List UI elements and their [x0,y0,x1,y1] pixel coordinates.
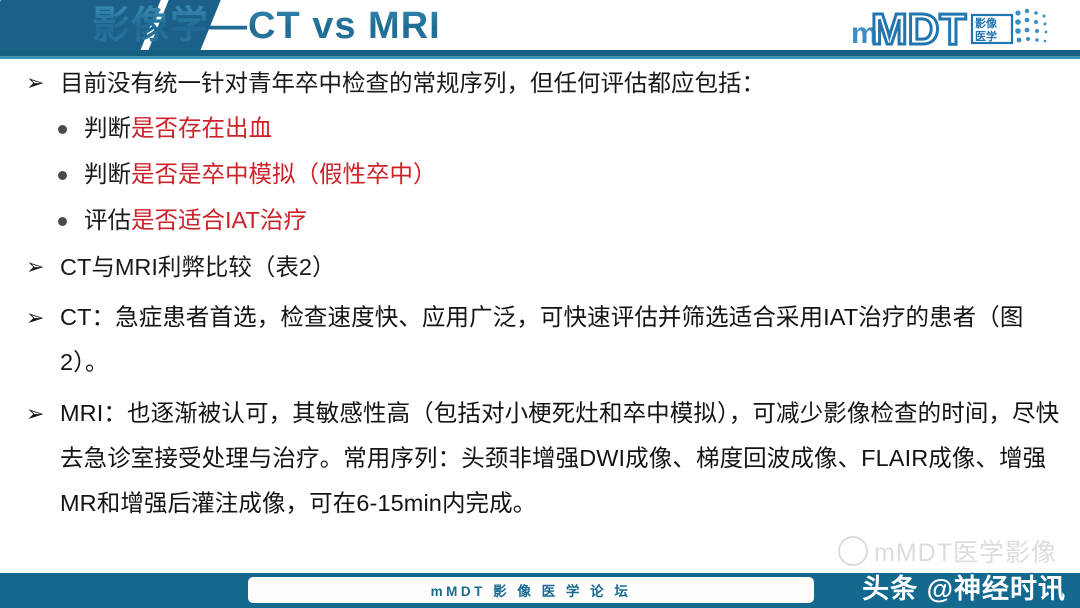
bullet-item-3: 评估是否适合IAT治疗 [54,205,1080,236]
slide-canvas: 影像学—CT vs MRI m MDT 影像 医学 [0,0,1080,608]
page-title: 影像学—CT vs MRI [92,1,441,51]
compare-line: ➢ CT与MRI利弊比较（表2） [26,252,1080,283]
svg-text:医学: 医学 [975,29,997,43]
header-rule-light [0,56,1080,59]
arrow-bullet-icon: ➢ [26,295,45,340]
arrow-bullet-icon: ➢ [26,67,44,98]
watermark-text: mMDT医学影像 [874,533,1057,569]
paragraph-ct: ➢ CT：急症患者首选，检查速度快、应用广泛，可快速评估并筛选适合采用IAT治疗… [26,295,1060,385]
svg-text:MDT: MDT [871,5,966,51]
dot-bullet-icon [58,217,67,226]
footer-text: mMDT 影 像 医 学 论 坛 [431,580,632,600]
bullet-prefix-2: 判断 [84,161,131,187]
svg-text:影像: 影像 [975,16,998,30]
intro-text: 目前没有统一针对青年卒中检查的常规序列，但任何评估都应包括： [60,70,765,96]
paragraph-mri-text: MRI：也逐渐被认可，其敏感性高（包括对小梗死灶和卒中模拟），可减少影像检查的时… [60,400,1059,516]
bullet-highlight-3: 是否适合IAT治疗 [131,207,307,233]
watermark-circle-icon [838,536,868,566]
channel-watermark: 头条 @神经时讯 [862,567,1066,606]
slide-header: 影像学—CT vs MRI m MDT 影像 医学 [0,0,1080,58]
bullet-item-2: 判断是否是卒中模拟（假性卒中） [54,159,1080,190]
bullet-highlight-1: 是否存在出血 [131,115,272,141]
bullet-prefix-3: 评估 [84,207,131,233]
dot-bullet-icon [58,125,67,134]
mmdt-logo-badge: 影像 医学 [972,15,1012,43]
mmdt-logo-graphic: m MDT 影像 医学 [851,3,1066,51]
bullet-prefix-1: 判断 [84,115,131,141]
bullet-item-1: 判断是否存在出血 [54,113,1080,144]
page-watermark: mMDT医学影像 [838,534,1068,568]
mmdt-logo: m MDT 影像 医学 [851,3,1066,51]
bullet-highlight-2: 是否是卒中模拟（假性卒中） [131,161,437,187]
arrow-bullet-icon: ➢ [26,391,45,436]
footer-plate: mMDT 影 像 医 学 论 坛 [248,577,814,603]
slide-content: ➢ 目前没有统一针对青年卒中检查的常规序列，但任何评估都应包括： 判断是否存在出… [0,62,1080,526]
mmdt-logo-dots [1015,9,1047,43]
intro-line: ➢ 目前没有统一针对青年卒中检查的常规序列，但任何评估都应包括： [26,68,1080,99]
paragraph-ct-text: CT：急症患者首选，检查速度快、应用广泛，可快速评估并筛选适合采用IAT治疗的患… [60,304,1023,375]
dot-bullet-icon [58,171,67,180]
compare-text: CT与MRI利弊比较（表2） [60,254,335,280]
paragraph-mri: ➢ MRI：也逐渐被认可，其敏感性高（包括对小梗死灶和卒中模拟），可减少影像检查… [26,391,1060,526]
arrow-bullet-icon: ➢ [26,251,44,282]
